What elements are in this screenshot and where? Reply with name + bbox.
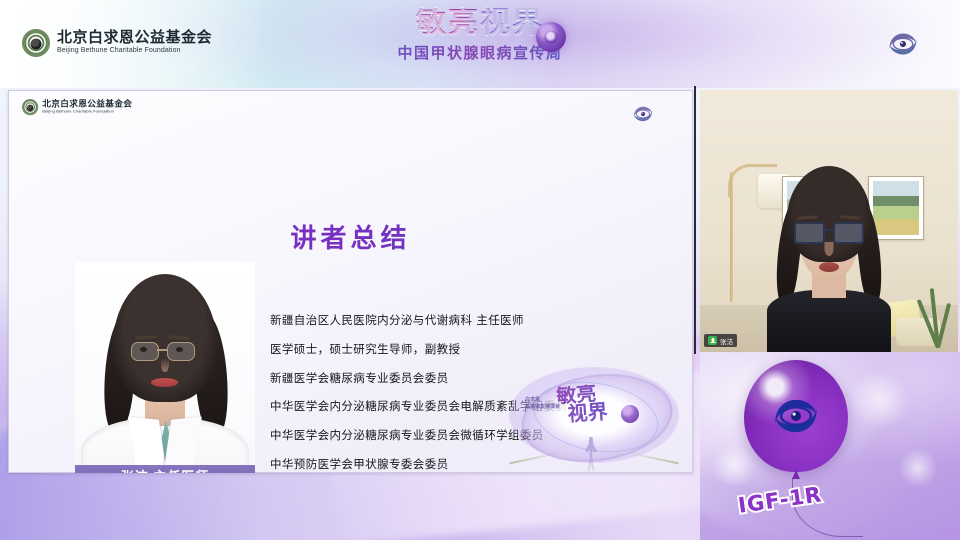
- eye-swirl-logo-icon: [880, 22, 926, 66]
- speaker-nameplate: 张洁 主任医师 新疆自治区人民医院: [75, 465, 255, 473]
- slide-eye-swirl-logo-icon: [627, 99, 659, 129]
- balloon-shape: [744, 360, 848, 472]
- event-title-main: 敏亮视界: [416, 8, 544, 38]
- presentation-slide[interactable]: 北京白求恩公益基金会 Beijing Bethune Charitable Fo…: [8, 90, 693, 473]
- slide-campaign-watermark: 白求恩 基金会支持项目 敏亮 视界: [499, 361, 689, 473]
- microphone-on-icon: [708, 336, 717, 345]
- speaker-portrait: [75, 262, 255, 473]
- slide-title: 讲者总结: [8, 218, 693, 255]
- watermark-title-line2: 视界: [567, 402, 608, 424]
- balloon-graphic-panel: IGF-1R IGF-1R: [700, 352, 960, 540]
- participant-video-panel[interactable]: 张洁: [700, 90, 958, 352]
- panda-roundel-icon: [22, 99, 38, 115]
- slide-foundation-logo: 北京白求恩公益基金会 Beijing Bethune Charitable Fo…: [22, 99, 132, 115]
- page-header: 北京白求恩公益基金会 Beijing Bethune Charitable Fo…: [0, 0, 960, 88]
- slide-foundation-name-cn: 北京白求恩公益基金会: [42, 100, 132, 109]
- list-item: 医学硕士，硕士研究生导师，副教授: [270, 341, 568, 357]
- screen-root: 北京白求恩公益基金会 Beijing Bethune Charitable Fo…: [0, 0, 960, 540]
- list-item: 新疆自治区人民医院内分泌与代谢病科 主任医师: [270, 312, 568, 328]
- participant-name: 张洁: [720, 336, 733, 346]
- slide-foundation-name-en: Beijing Bethune Charitable Foundation: [42, 110, 132, 115]
- watermark-sponsor-1: 白求恩: [525, 397, 560, 404]
- balloon-eye-swirl-logo-icon: [760, 385, 832, 447]
- panel-divider: [694, 86, 696, 354]
- purple-eye-orb-icon: [536, 22, 566, 52]
- plant-icon: [922, 282, 956, 348]
- participant-figure: [764, 162, 894, 352]
- watermark-leaf-right-icon: [627, 449, 679, 467]
- speaker-name: 张洁 主任医师: [121, 470, 210, 474]
- participant-name-badge: 张洁: [704, 334, 737, 347]
- event-title-block: 敏亮视界 中国甲状腺眼病宣传周: [0, 8, 960, 63]
- watermark-orb-icon: [621, 405, 639, 423]
- watermark-sponsor-2: 基金会支持项目: [525, 404, 560, 411]
- webcam-feed[interactable]: 张洁: [700, 90, 958, 352]
- watermark-leaf-left-icon: [509, 449, 561, 467]
